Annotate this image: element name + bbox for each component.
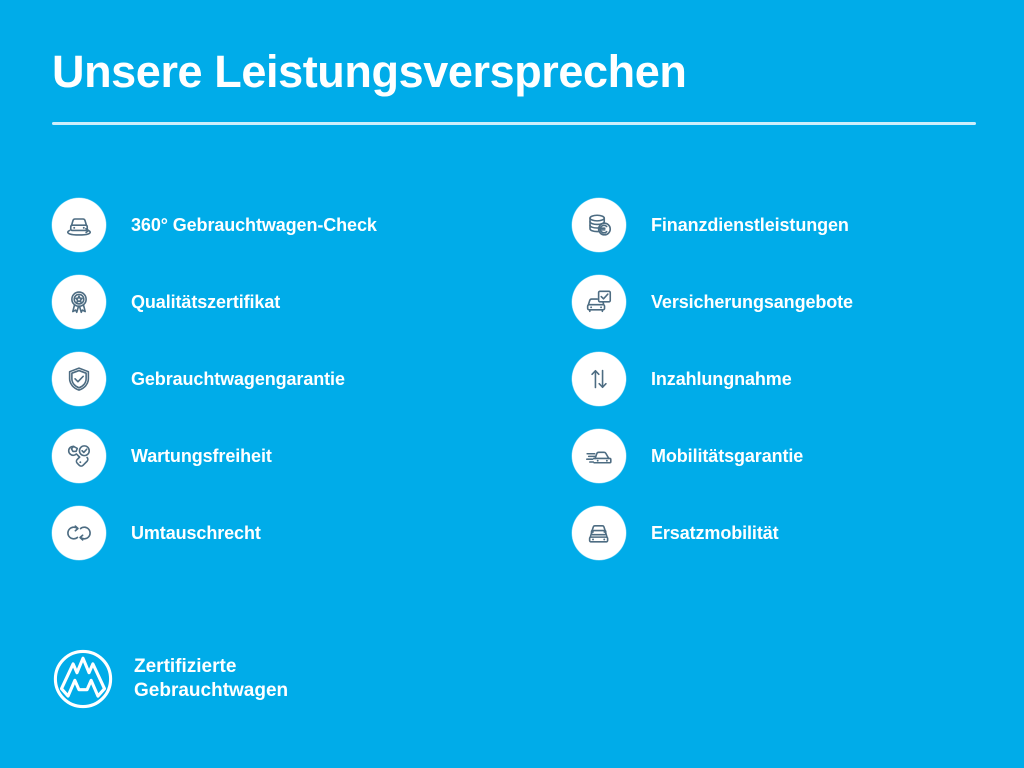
title-divider <box>52 122 976 125</box>
car-360-check-icon <box>52 198 106 252</box>
list-item-label: 360° Gebrauchtwagen-Check <box>131 215 377 236</box>
page-title: Unsere Leistungsversprechen <box>52 48 976 95</box>
list-item-label: Finanzdienstleistungen <box>651 215 849 236</box>
list-item-label: Qualitätszertifikat <box>131 292 280 313</box>
list-item-label: Wartungsfreiheit <box>131 446 272 467</box>
coins-euro-icon <box>572 198 626 252</box>
promises-right-column: Finanzdienstleistungen Versicheru <box>572 198 992 583</box>
arrows-up-down-icon <box>572 352 626 406</box>
brand-line-2: Gebrauchtwagen <box>134 679 288 703</box>
list-item: Ersatzmobilität <box>572 506 992 560</box>
car-document-check-icon <box>572 275 626 329</box>
list-item-label: Gebrauchtwagengarantie <box>131 369 345 390</box>
promises-left-column: 360° Gebrauchtwagen-Check Qualitätszerti… <box>52 198 522 583</box>
list-item: Inzahlungnahme <box>572 352 992 406</box>
list-item: Finanzdienstleistungen <box>572 198 992 252</box>
award-rosette-icon <box>52 275 106 329</box>
shield-check-icon <box>52 352 106 406</box>
promises-columns: 360° Gebrauchtwagen-Check Qualitätszerti… <box>0 198 1024 583</box>
list-item: Mobilitätsgarantie <box>572 429 992 483</box>
brand-text: Zertifizierte Gebrauchtwagen <box>134 655 288 704</box>
list-item: Versicherungsangebote <box>572 275 992 329</box>
list-item-label: Versicherungsangebote <box>651 292 853 313</box>
list-item: 360° Gebrauchtwagen-Check <box>52 198 522 252</box>
list-item: Umtauschrecht <box>52 506 522 560</box>
list-item: Wartungsfreiheit <box>52 429 522 483</box>
brand-block: Zertifizierte Gebrauchtwagen <box>52 648 288 710</box>
vw-logo-icon <box>52 648 114 710</box>
two-cars-icon <box>572 506 626 560</box>
car-speed-icon <box>572 429 626 483</box>
list-item-label: Inzahlungnahme <box>651 369 792 390</box>
list-item: Gebrauchtwagengarantie <box>52 352 522 406</box>
wrench-check-icon <box>52 429 106 483</box>
list-item-label: Mobilitätsgarantie <box>651 446 803 467</box>
exchange-arrows-icon <box>52 506 106 560</box>
list-item-label: Umtauschrecht <box>131 523 261 544</box>
list-item-label: Ersatzmobilität <box>651 523 779 544</box>
list-item: Qualitätszertifikat <box>52 275 522 329</box>
promises-slide: Unsere Leistungsversprechen 360° Gebrauc <box>0 0 1024 768</box>
brand-line-1: Zertifizierte <box>134 655 288 679</box>
header: Unsere Leistungsversprechen <box>52 48 976 125</box>
